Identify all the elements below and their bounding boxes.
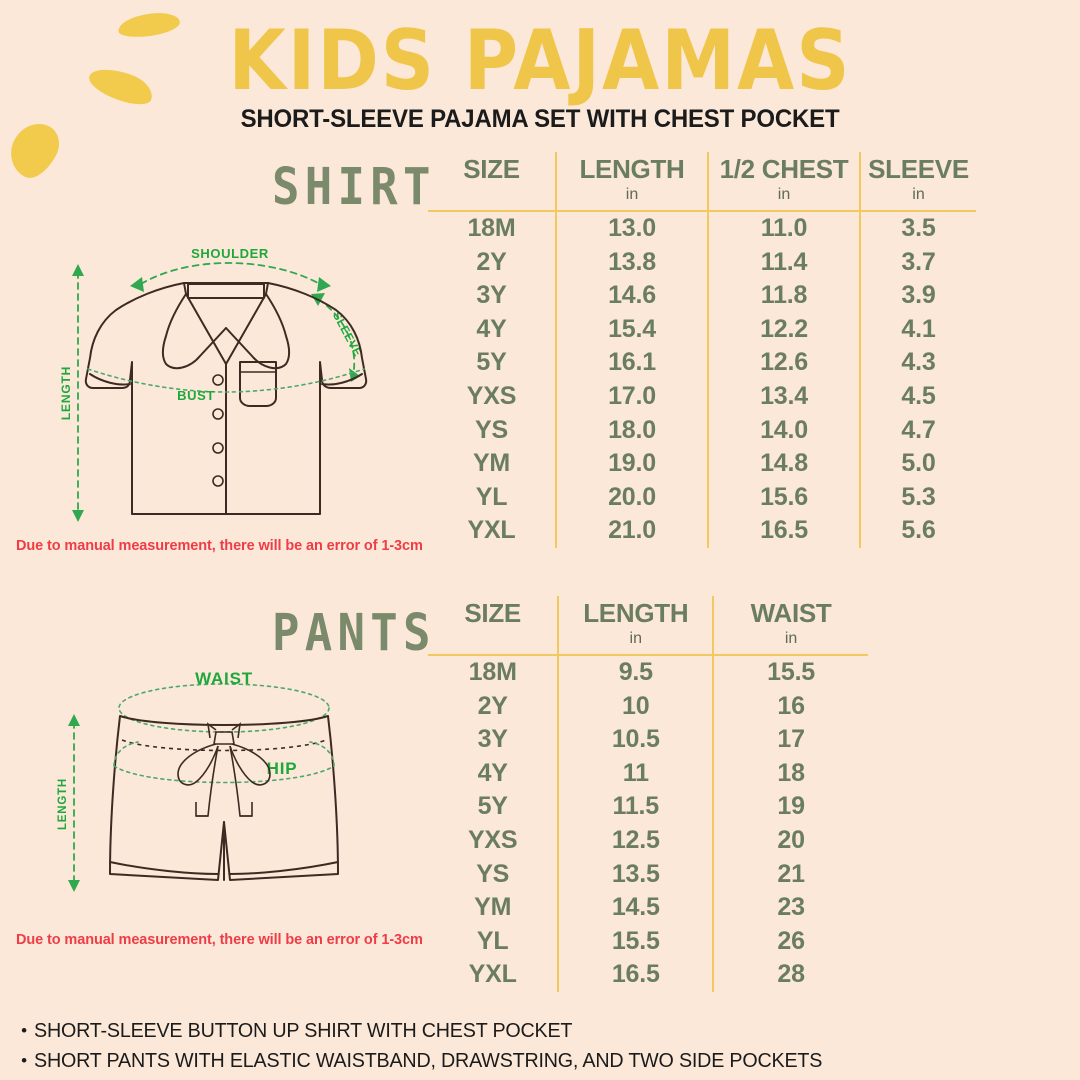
pants-table-body: 18M9.515.5 2Y1016 3Y10.517 4Y1118 5Y11.5… — [428, 655, 868, 992]
shirt-col-unit-chest: in — [708, 184, 860, 211]
page-subtitle: SHORT-SLEEVE PAJAMA SET WITH CHEST POCKE… — [22, 104, 1059, 134]
cell-size: YS — [428, 858, 558, 892]
shirt-label-length: LENGTH — [59, 366, 73, 420]
cell-length: 12.5 — [558, 824, 713, 858]
cell-size: 2Y — [428, 690, 558, 724]
cell-length: 13.8 — [556, 246, 708, 280]
cell-length: 11 — [558, 757, 713, 791]
cell-length: 11.5 — [558, 790, 713, 824]
table-row: YS18.014.04.7 — [428, 414, 976, 448]
table-row: YS13.521 — [428, 858, 868, 892]
cell-sleeve: 3.9 — [860, 279, 976, 313]
cell-sleeve: 4.5 — [860, 380, 976, 414]
pants-measurement-note: Due to manual measurement, there will be… — [16, 932, 423, 948]
cell-sleeve: 4.7 — [860, 414, 976, 448]
cell-length: 14.5 — [558, 891, 713, 925]
section-label-shirt: SHIRT — [272, 158, 436, 217]
table-row: 4Y1118 — [428, 757, 868, 791]
pants-col-unit-length: in — [558, 628, 713, 655]
feature-bullet-list: • SHORT-SLEEVE BUTTON UP SHIRT WITH CHES… — [14, 1016, 914, 1076]
table-row: 18M9.515.5 — [428, 655, 868, 690]
table-row: 5Y16.112.64.3 — [428, 346, 976, 380]
pants-diagram: WAIST LENGTH HIP — [38, 656, 410, 941]
cell-waist: 16 — [713, 690, 868, 724]
cell-length: 16.1 — [556, 346, 708, 380]
cell-chest: 15.6 — [708, 481, 860, 515]
cell-sleeve: 4.3 — [860, 346, 976, 380]
table-row: YXL16.528 — [428, 958, 868, 992]
cell-size: YXS — [428, 824, 558, 858]
cell-sleeve: 3.7 — [860, 246, 976, 280]
table-row: 2Y1016 — [428, 690, 868, 724]
page-title: KIDS PAJAMAS — [0, 16, 1080, 106]
cell-size: YM — [428, 891, 558, 925]
list-item: • SHORT-SLEEVE BUTTON UP SHIRT WITH CHES… — [14, 1016, 914, 1046]
cell-length: 10 — [558, 690, 713, 724]
pants-col-header-waist: WAIST — [713, 596, 868, 628]
shirt-col-unit-size — [428, 184, 556, 211]
cell-chest: 14.0 — [708, 414, 860, 448]
cell-waist: 28 — [713, 958, 868, 992]
cell-size: YXL — [428, 514, 556, 548]
pants-label-hip: HIP — [267, 759, 298, 778]
pants-col-unit-waist: in — [713, 628, 868, 655]
cell-length: 15.4 — [556, 313, 708, 347]
cell-chest: 11.4 — [708, 246, 860, 280]
cell-size: 5Y — [428, 790, 558, 824]
bullet-text: SHORT PANTS WITH ELASTIC WAISTBAND, DRAW… — [34, 1046, 822, 1076]
cell-sleeve: 5.3 — [860, 481, 976, 515]
cell-sleeve: 5.0 — [860, 447, 976, 481]
table-row: 4Y15.412.24.1 — [428, 313, 976, 347]
bullet-dot-icon: • — [14, 1046, 34, 1076]
shirt-col-header-chest: 1/2 CHEST — [708, 152, 860, 184]
bullet-text: SHORT-SLEEVE BUTTON UP SHIRT WITH CHEST … — [34, 1016, 572, 1046]
cell-waist: 20 — [713, 824, 868, 858]
shirt-label-sleeve: SLEEVE — [330, 310, 364, 359]
cell-size: YM — [428, 447, 556, 481]
shirt-col-header-length: LENGTH — [556, 152, 708, 184]
cell-length: 15.5 — [558, 925, 713, 959]
table-row: 18M13.011.03.5 — [428, 211, 976, 246]
table-row: 5Y11.519 — [428, 790, 868, 824]
cell-size: 4Y — [428, 313, 556, 347]
section-label-pants: PANTS — [272, 604, 436, 663]
pants-size-table: SIZE LENGTH WAIST in in 18M9.515.5 2Y101… — [428, 596, 868, 992]
bullet-dot-icon: • — [14, 1016, 34, 1046]
cell-length: 16.5 — [558, 958, 713, 992]
cell-size: 5Y — [428, 346, 556, 380]
cell-length: 14.6 — [556, 279, 708, 313]
cell-size: 18M — [428, 655, 558, 690]
list-item: • SHORT PANTS WITH ELASTIC WAISTBAND, DR… — [14, 1046, 914, 1076]
cell-length: 13.5 — [558, 858, 713, 892]
cell-waist: 18 — [713, 757, 868, 791]
cell-length: 20.0 — [556, 481, 708, 515]
cell-length: 17.0 — [556, 380, 708, 414]
table-row: YM19.014.85.0 — [428, 447, 976, 481]
pants-col-unit-size — [428, 628, 558, 655]
cell-size: 3Y — [428, 279, 556, 313]
cell-sleeve: 4.1 — [860, 313, 976, 347]
shirt-col-header-sleeve: SLEEVE — [860, 152, 976, 184]
cell-length: 19.0 — [556, 447, 708, 481]
table-row: YXS12.520 — [428, 824, 868, 858]
cell-chest: 12.2 — [708, 313, 860, 347]
pants-col-header-size: SIZE — [428, 596, 558, 628]
cell-waist: 19 — [713, 790, 868, 824]
cell-size: 2Y — [428, 246, 556, 280]
shirt-col-header-size: SIZE — [428, 152, 556, 184]
cell-size: YS — [428, 414, 556, 448]
shirt-label-bust: BUST — [177, 388, 215, 403]
cell-waist: 23 — [713, 891, 868, 925]
pants-label-waist: WAIST — [195, 669, 253, 688]
table-row: YL20.015.65.3 — [428, 481, 976, 515]
cell-chest: 11.0 — [708, 211, 860, 246]
cell-size: YXS — [428, 380, 556, 414]
cell-size: YXL — [428, 958, 558, 992]
size-chart-page: KIDS PAJAMAS SHORT-SLEEVE PAJAMA SET WIT… — [0, 0, 1080, 1080]
cell-waist: 21 — [713, 858, 868, 892]
cell-chest: 12.6 — [708, 346, 860, 380]
table-row: YM14.523 — [428, 891, 868, 925]
table-row: 2Y13.811.43.7 — [428, 246, 976, 280]
table-row: 3Y14.611.83.9 — [428, 279, 976, 313]
cell-length: 18.0 — [556, 414, 708, 448]
cell-size: YL — [428, 481, 556, 515]
table-row: YL15.526 — [428, 925, 868, 959]
table-row: 3Y10.517 — [428, 723, 868, 757]
shirt-diagram: SHOULDER SLEEVE LENGTH — [38, 236, 410, 541]
table-row: YXS17.013.44.5 — [428, 380, 976, 414]
cell-size: 18M — [428, 211, 556, 246]
cell-sleeve: 5.6 — [860, 514, 976, 548]
cell-chest: 13.4 — [708, 380, 860, 414]
cell-size: 4Y — [428, 757, 558, 791]
cell-chest: 16.5 — [708, 514, 860, 548]
table-row: YXL21.016.55.6 — [428, 514, 976, 548]
cell-length: 13.0 — [556, 211, 708, 246]
cell-size: YL — [428, 925, 558, 959]
shirt-measurement-note: Due to manual measurement, there will be… — [16, 538, 423, 554]
cell-chest: 11.8 — [708, 279, 860, 313]
pants-col-header-length: LENGTH — [558, 596, 713, 628]
cell-chest: 14.8 — [708, 447, 860, 481]
cell-waist: 15.5 — [713, 655, 868, 690]
shirt-col-unit-length: in — [556, 184, 708, 211]
cell-sleeve: 3.5 — [860, 211, 976, 246]
cell-length: 21.0 — [556, 514, 708, 548]
cell-size: 3Y — [428, 723, 558, 757]
shirt-col-unit-sleeve: in — [860, 184, 976, 211]
cell-waist: 17 — [713, 723, 868, 757]
shirt-table-body: 18M13.011.03.5 2Y13.811.43.7 3Y14.611.83… — [428, 211, 976, 548]
cell-waist: 26 — [713, 925, 868, 959]
pants-label-length: LENGTH — [57, 778, 69, 830]
shirt-label-shoulder: SHOULDER — [191, 246, 269, 261]
cell-length: 9.5 — [558, 655, 713, 690]
shirt-size-table: SIZE LENGTH 1/2 CHEST SLEEVE in in in 18… — [428, 152, 976, 548]
cell-length: 10.5 — [558, 723, 713, 757]
